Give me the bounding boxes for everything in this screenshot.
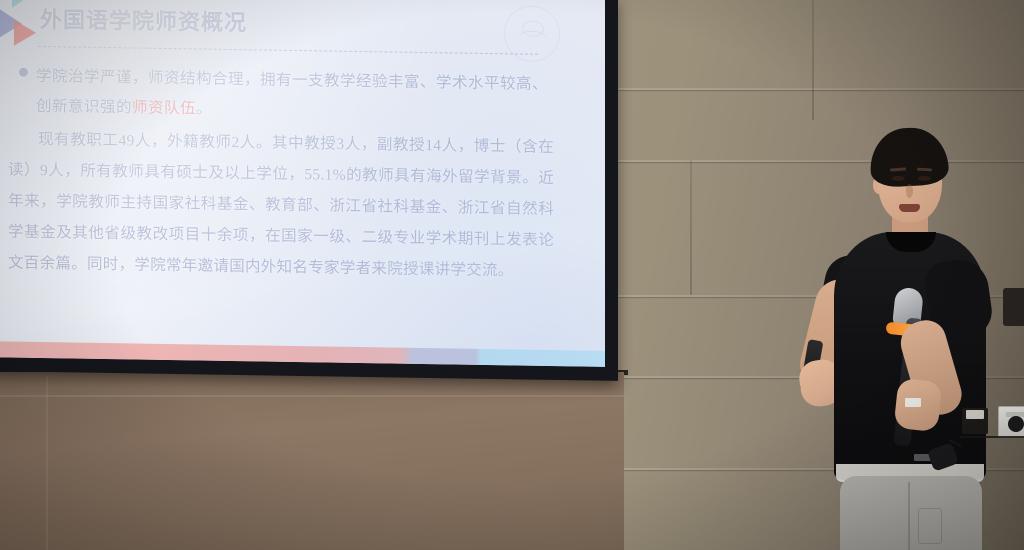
gray-sweatpants [840,476,982,550]
lower-wall-seam [0,395,624,397]
slide-bullet-paragraph: 学院治学严谨，师资结构合理，拥有一支教学经验丰富、学术水平较高、创新意识强的师资… [36,62,548,130]
lower-wall [0,372,624,550]
socket-knob-icon [1008,416,1024,432]
wall-panel-seam-vertical [690,160,692,295]
slide-body-paragraph: 现有教职工49人，外籍教师2人。其中教授3人，副教授14人，博士（含在读）9人，… [8,123,554,287]
junction-box [962,408,988,434]
hair [869,126,950,188]
bullet-text-highlight: 师资队伍 [132,99,196,117]
title-divider [38,46,538,55]
bullet-text-after: 。 [196,100,212,117]
nose [906,184,913,198]
eye-left [892,176,905,181]
projection-screen: 外国语学院师资概况 学院治学严谨，师资结构合理，拥有一支教学经验丰富、学术水平较… [0,0,605,367]
wall-socket [998,406,1024,438]
pants-pocket [918,508,942,544]
eye-right [918,176,931,181]
presenter [778,128,1004,550]
lower-wall-seam-vertical [46,376,48,550]
triangle-red-icon [14,20,36,46]
bullet-dot-icon [19,68,28,77]
wall-label [905,398,921,407]
power-cable [960,436,1024,438]
triangle-teal-icon [12,0,23,8]
wall-panel-seam-vertical [812,0,814,120]
speaker-mount [1003,288,1024,326]
bullet-text-before: 学院治学严谨，师资结构合理，拥有一支教学经验丰富、学术水平较高、创新意识强的 [36,68,548,117]
pants-seam [908,482,910,550]
presentation-photo: 外国语学院师资概况 学院治学严谨，师资结构合理，拥有一支教学经验丰富、学术水平较… [0,0,1024,550]
slide-title: 外国语学院师资概况 [40,2,247,37]
mouth [899,204,920,212]
